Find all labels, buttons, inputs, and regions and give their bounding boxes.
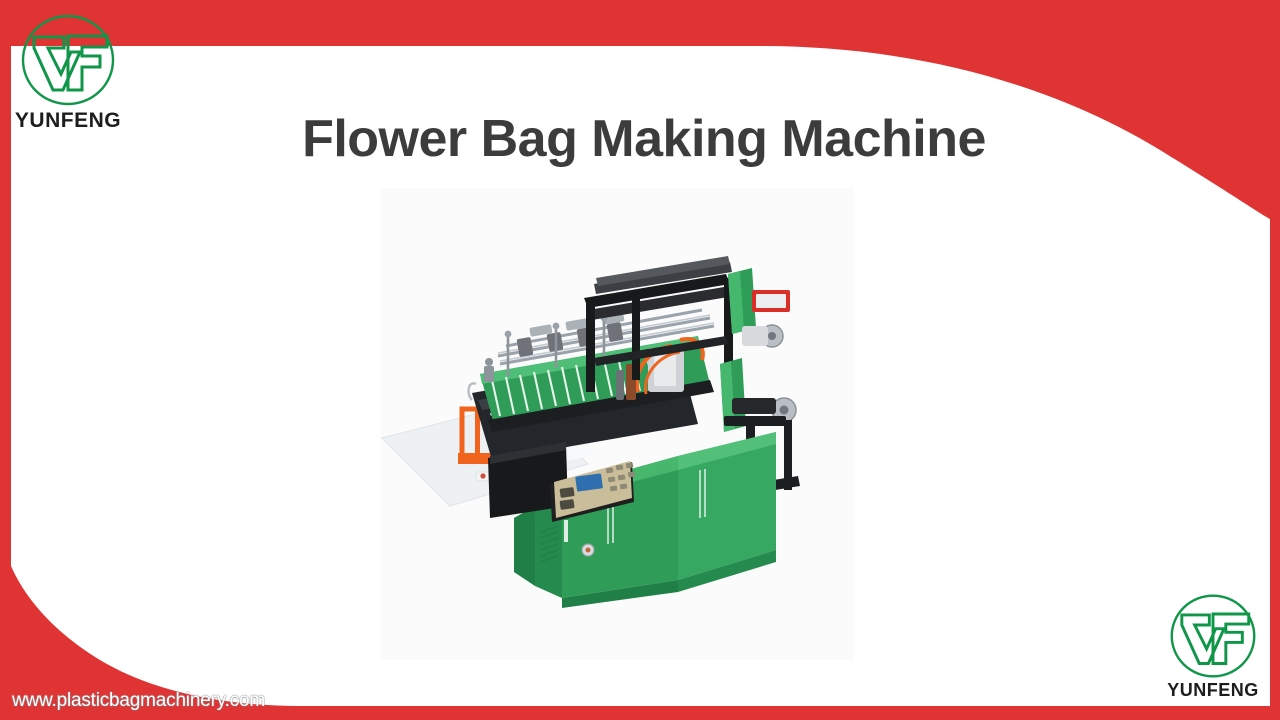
- yunfeng-vf-circle-icon: [8, 12, 128, 108]
- brand-wordmark-top-left: YUNFENG: [8, 110, 128, 131]
- brand-logo-bottom-right: YUNFENG: [1158, 592, 1268, 700]
- slide-canvas: YUNFENG Flower Bag Making Machine: [0, 0, 1280, 720]
- website-url: www.plasticbagmachinery.com: [12, 690, 265, 712]
- flower-bag-making-machine-illustration: [380, 188, 854, 660]
- brand-wordmark-bottom-right: YUNFENG: [1158, 681, 1268, 699]
- page-title-text: Flower Bag Making Machine: [294, 112, 986, 167]
- product-image: [380, 188, 854, 660]
- page-title: Flower Bag Making Machine: [0, 112, 1280, 167]
- yunfeng-vf-circle-icon-secondary: [1158, 592, 1268, 680]
- brand-logo-top-left: YUNFENG: [8, 12, 128, 130]
